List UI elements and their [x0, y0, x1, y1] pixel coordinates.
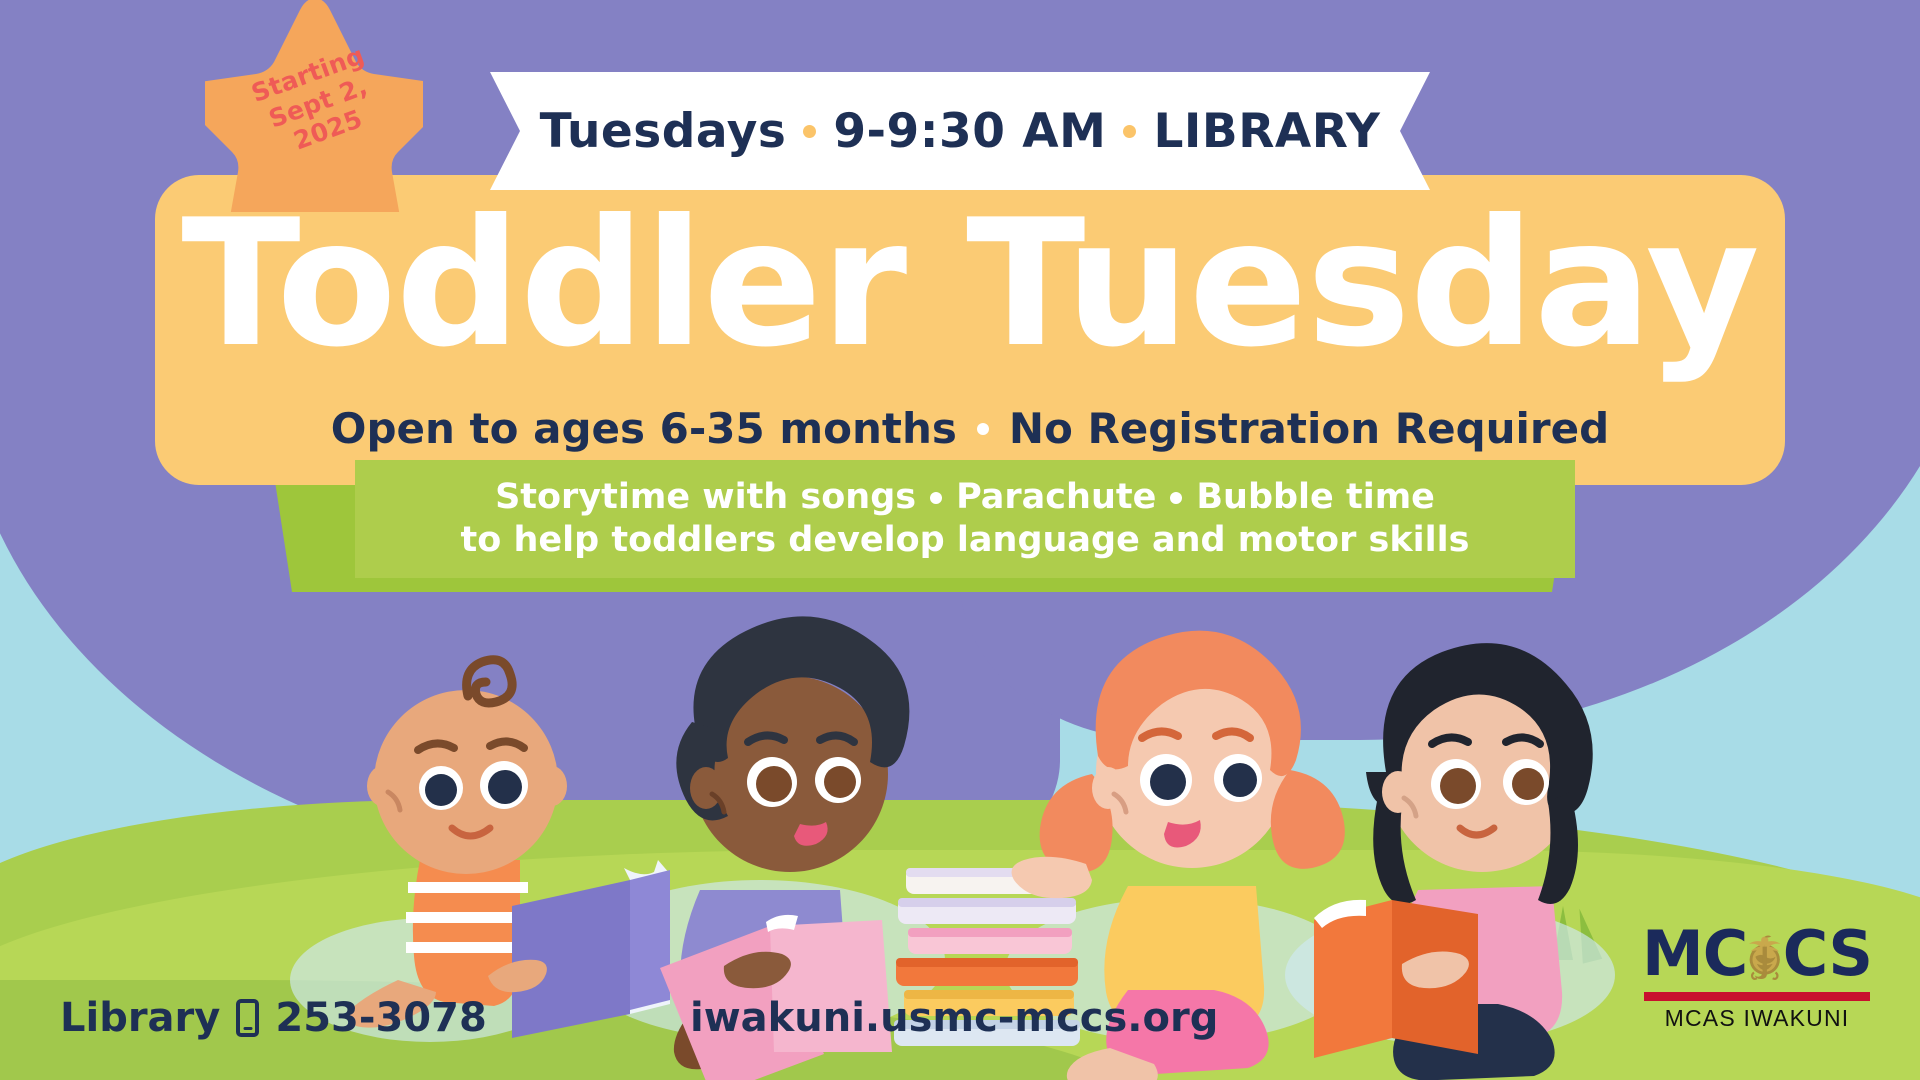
separator-dot-icon: [977, 423, 989, 435]
activity-parachute: Parachute: [956, 476, 1156, 519]
installation-name: MCAS IWAKUNI: [1642, 1005, 1872, 1032]
starting-date-badge: Starting Sept 2, 2025: [205, 0, 423, 212]
separator-dot-icon: [803, 125, 816, 138]
event-title: Toddler Tuesday: [155, 196, 1785, 375]
activities-line-1: Storytime with songs Parachute Bubble ti…: [495, 476, 1435, 519]
activity-storytime: Storytime with songs: [495, 476, 916, 519]
registration-note: No Registration Required: [1009, 404, 1609, 453]
mobile-phone-icon: [236, 999, 259, 1037]
contact-info[interactable]: Library 253-3078: [60, 995, 487, 1041]
phone-number[interactable]: 253-3078: [275, 995, 486, 1041]
library-label: Library: [60, 995, 220, 1041]
schedule-ribbon: Tuesdays 9-9:30 AM LIBRARY: [490, 72, 1430, 190]
activities-line-2: to help toddlers develop language and mo…: [461, 519, 1470, 562]
mccs-logo[interactable]: MC CS MCAS IWAKUNI: [1642, 921, 1872, 1032]
mccs-brand-left: MC: [1642, 923, 1747, 985]
activity-bubbles: Bubble time: [1196, 476, 1435, 519]
ribbon-day: Tuesdays: [540, 104, 787, 159]
website-url[interactable]: iwakuni.usmc-mccs.org: [690, 995, 1218, 1041]
flyer-canvas: Starting Sept 2, 2025 Tuesdays 9-9:30 AM…: [0, 0, 1920, 1080]
schedule-text: Tuesdays 9-9:30 AM LIBRARY: [540, 104, 1381, 159]
mccs-wordmark: MC CS: [1642, 921, 1872, 987]
eagle-globe-anchor-icon: [1741, 923, 1788, 989]
eligibility-line: Open to ages 6-35 months No Registration…: [155, 404, 1785, 453]
logo-divider-bar: [1644, 992, 1870, 1001]
separator-dot-icon: [1170, 492, 1182, 504]
separator-dot-icon: [930, 492, 942, 504]
age-range: Open to ages 6-35 months: [331, 404, 957, 453]
ribbon-time: 9-9:30 AM: [833, 104, 1106, 159]
separator-dot-icon: [1123, 125, 1136, 138]
ribbon-location: LIBRARY: [1153, 104, 1380, 159]
mccs-brand-right: CS: [1783, 923, 1872, 985]
